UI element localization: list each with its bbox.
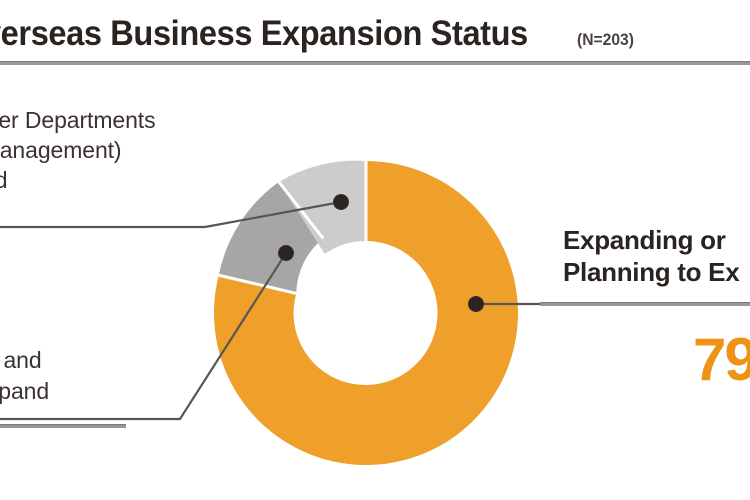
callout-not-expanding-line-1: panding and (0, 345, 246, 376)
donut-slices (214, 161, 518, 465)
leader-dot-expanding (469, 297, 484, 312)
callout-unsure-line-3: gaged (0, 166, 289, 196)
callout-not-expanding: panding and ns to Expand (0, 345, 246, 406)
callout-unsure: if Other Departments ing Management) gag… (0, 106, 289, 196)
callout-unsure-line-2: ing Management) (0, 136, 289, 166)
callout-not-expanding-line-2: ns to Expand (0, 376, 246, 407)
callout-expanding-line-1: Expanding or (563, 224, 750, 256)
leader-dot-unsure (334, 195, 349, 210)
callout-unsure-line-1: if Other Departments (0, 106, 289, 136)
leader-dot-not-expanding (279, 246, 294, 261)
callout-not-expanding-divider (0, 424, 126, 428)
callout-expanding-divider (540, 302, 750, 306)
callout-expanding-value: 79 (693, 325, 750, 394)
callout-expanding: Expanding or Planning to Ex (563, 224, 750, 288)
callout-expanding-line-2: Planning to Ex (563, 256, 750, 288)
infographic-canvas: Overseas Business Expansion Status (N=20… (0, 0, 750, 500)
